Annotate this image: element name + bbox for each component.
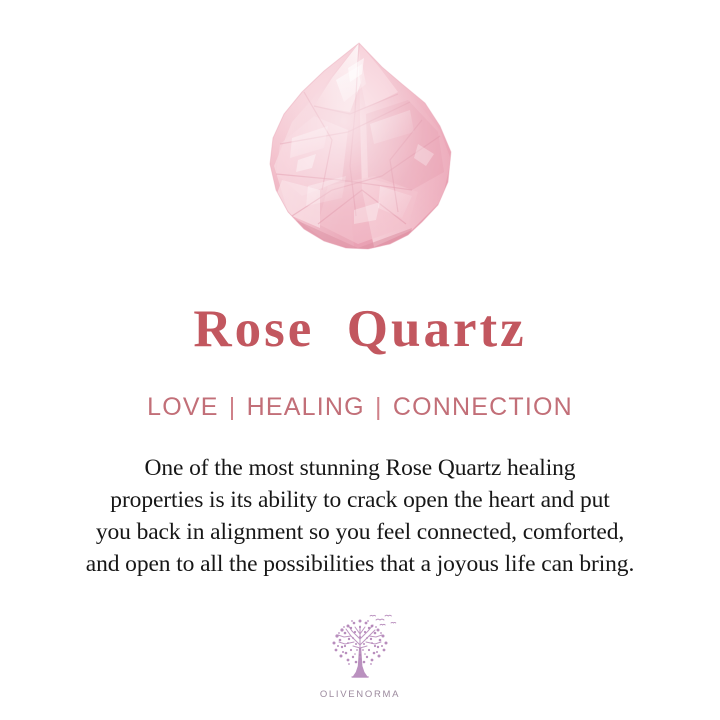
description-paragraph: One of the most stunning Rose Quartz hea… [26,452,694,580]
keyword-separator-2: | [373,393,385,421]
keyword-connection: CONNECTION [393,393,573,421]
description-line: and open to all the possibilities that a… [26,548,694,580]
keyword-subtitle: LOVE | HEALING | CONNECTION [0,394,720,422]
keyword-healing: HEALING [247,393,365,421]
brand-logo: OLIVENORMA [0,612,720,700]
description-line: One of the most stunning Rose Quartz hea… [26,452,694,484]
description-line: properties is its ability to crack open … [26,484,694,516]
rose-quartz-crystal-image [262,40,458,255]
keyword-love: LOVE [147,393,219,421]
keyword-separator-1: | [227,393,239,421]
tree-of-life-icon [318,612,402,686]
hero-image-container [0,0,720,275]
brand-name: OLIVENORMA [320,689,400,700]
description-line: you back in alignment so you feel connec… [26,516,694,548]
product-info-card: Rose Quartz LOVE | HEALING | CONNECTION … [0,0,720,720]
page-title: Rose Quartz [0,302,720,358]
crystal-body [262,40,458,255]
